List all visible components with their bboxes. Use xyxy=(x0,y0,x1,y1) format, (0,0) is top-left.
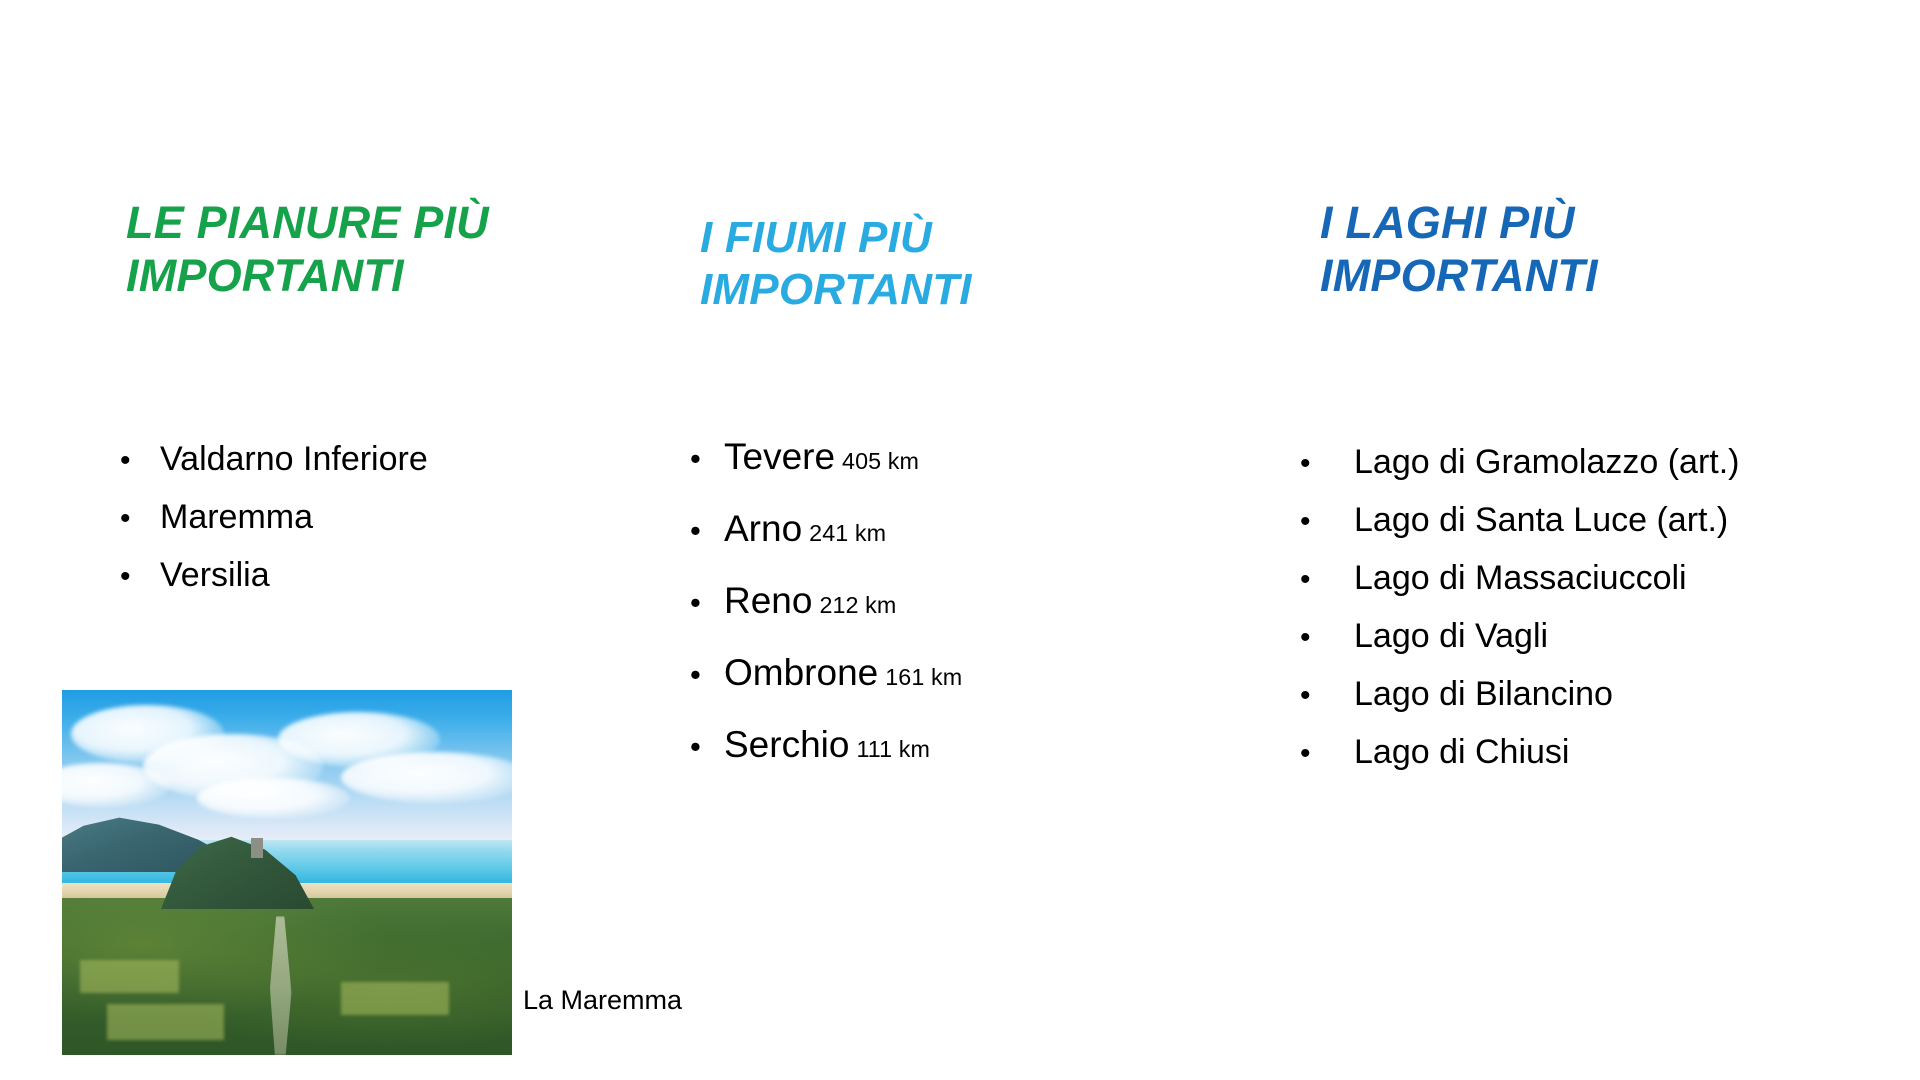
bullet-icon: • xyxy=(690,731,724,762)
list-item-label: Lago di Santa Luce (art.) xyxy=(1354,501,1728,540)
list-item-length: 161 km xyxy=(878,664,962,691)
bullet-icon: • xyxy=(1300,739,1354,769)
photo-field xyxy=(107,1004,224,1041)
list-item-length: 212 km xyxy=(812,592,896,619)
bullet-icon: • xyxy=(1300,507,1354,537)
maremma-coast-photo xyxy=(62,690,512,1055)
column-heading-rivers: I FIUMI PIÙ IMPORTANTI xyxy=(700,212,1100,316)
list-item-label: Reno xyxy=(724,580,812,622)
list-item-label: Serchio xyxy=(724,724,849,766)
list-item-length: 111 km xyxy=(849,736,930,763)
list-item-label: Arno xyxy=(724,508,802,550)
bullet-list-lakes: • Lago di Gramolazzo (art.) • Lago di Sa… xyxy=(1300,443,1740,791)
list-item-label: Tevere xyxy=(724,436,835,478)
list-item: • Reno 212 km xyxy=(690,580,962,652)
list-item: • Lago di Vagli xyxy=(1300,617,1740,675)
list-item-label: Lago di Bilancino xyxy=(1354,675,1613,714)
bullet-icon: • xyxy=(120,562,160,592)
bullet-icon: • xyxy=(690,659,724,690)
list-item: • Lago di Bilancino xyxy=(1300,675,1740,733)
bullet-icon: • xyxy=(1300,565,1354,595)
cloud-shape xyxy=(197,778,350,818)
bullet-icon: • xyxy=(690,515,724,546)
bullet-icon: • xyxy=(120,446,160,476)
slide-canvas: LE PIANURE PIÙ IMPORTANTI • Valdarno Inf… xyxy=(0,0,1920,1080)
bullet-icon: • xyxy=(690,587,724,618)
list-item: • Lago di Santa Luce (art.) xyxy=(1300,501,1740,559)
list-item: • Lago di Chiusi xyxy=(1300,733,1740,791)
bullet-icon: • xyxy=(690,443,724,474)
bullet-icon: • xyxy=(1300,681,1354,711)
list-item: • Valdarno Inferiore xyxy=(120,440,428,498)
column-heading-lakes: I LAGHI PIÙ IMPORTANTI xyxy=(1320,196,1750,302)
photo-caption: La Maremma xyxy=(523,985,682,1016)
list-item: • Maremma xyxy=(120,498,428,556)
bullet-list-plains: • Valdarno Inferiore • Maremma • Versili… xyxy=(120,440,428,614)
bullet-icon: • xyxy=(1300,623,1354,653)
list-item: • Lago di Gramolazzo (art.) xyxy=(1300,443,1740,501)
list-item: • Ombrone 161 km xyxy=(690,652,962,724)
list-item-label: Lago di Chiusi xyxy=(1354,733,1569,772)
list-item: • Tevere 405 km xyxy=(690,436,962,508)
list-item-label: Lago di Gramolazzo (art.) xyxy=(1354,443,1740,482)
column-heading-plains: LE PIANURE PIÙ IMPORTANTI xyxy=(126,196,556,302)
bullet-icon: • xyxy=(120,504,160,534)
list-item: • Versilia xyxy=(120,556,428,614)
list-item-label: Lago di Vagli xyxy=(1354,617,1548,656)
list-item-length: 405 km xyxy=(835,448,919,475)
bullet-icon: • xyxy=(1300,449,1354,479)
list-item-label: Valdarno Inferiore xyxy=(160,440,428,479)
list-item-label: Ombrone xyxy=(724,652,878,694)
photo-watchtower xyxy=(251,838,263,858)
list-item: • Serchio 111 km xyxy=(690,724,962,796)
list-item: • Lago di Massaciuccoli xyxy=(1300,559,1740,617)
bullet-list-rivers: • Tevere 405 km • Arno 241 km • Reno 212… xyxy=(690,436,962,796)
list-item-length: 241 km xyxy=(802,520,886,547)
photo-field xyxy=(80,960,179,993)
photo-field xyxy=(341,982,449,1015)
list-item-label: Lago di Massaciuccoli xyxy=(1354,559,1687,598)
list-item-label: Maremma xyxy=(160,498,313,537)
list-item: • Arno 241 km xyxy=(690,508,962,580)
list-item-label: Versilia xyxy=(160,556,270,595)
